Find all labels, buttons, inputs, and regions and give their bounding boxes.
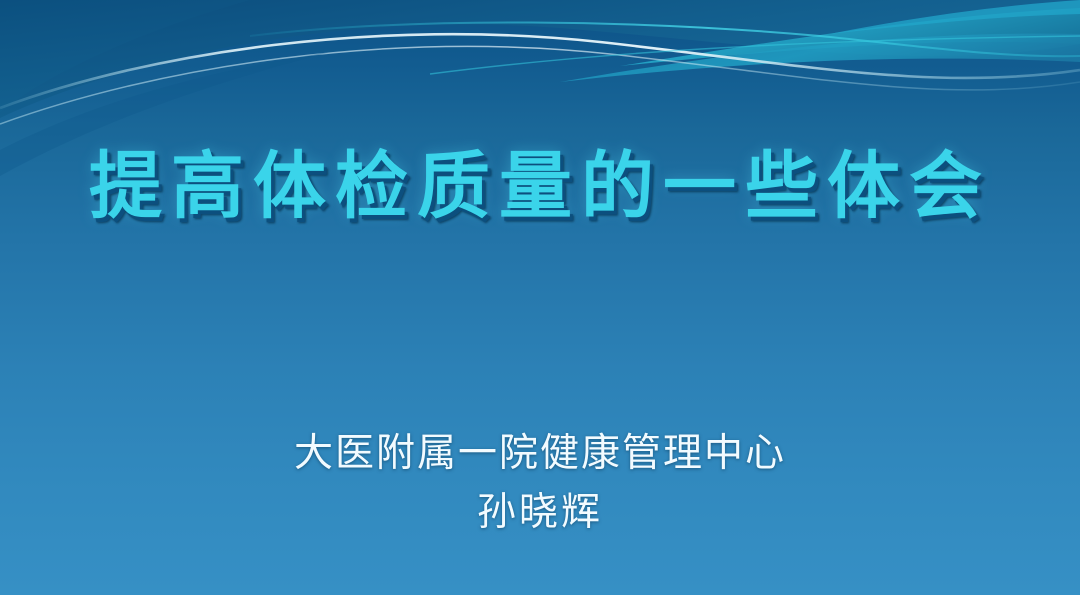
wave-hairline-main <box>0 34 1080 108</box>
wave-hairline-secondary <box>0 46 1080 124</box>
subtitle-block: 大医附属一院健康管理中心 孙晓辉 <box>0 424 1080 543</box>
title-block: 提高体检质量的一些体会 <box>0 148 1080 227</box>
wave-corner-teal <box>0 0 250 112</box>
subtitle-author: 孙晓辉 <box>0 483 1080 542</box>
subtitle-organization: 大医附属一院健康管理中心 <box>0 424 1080 483</box>
wave-sliver-topright <box>830 0 1080 34</box>
wave-cyan-band-right <box>620 8 1080 66</box>
page-title: 提高体检质量的一些体会 <box>89 148 991 227</box>
title-slide: 提高体检质量的一些体会 大医附属一院健康管理中心 孙晓辉 <box>0 0 1080 595</box>
wave-dark-swoop <box>0 0 1080 118</box>
wave-cyan-edge-upper <box>250 22 1080 56</box>
wave-cyan-band-right-lower <box>560 34 1080 82</box>
wave-cyan-edge-lower <box>430 36 1080 74</box>
